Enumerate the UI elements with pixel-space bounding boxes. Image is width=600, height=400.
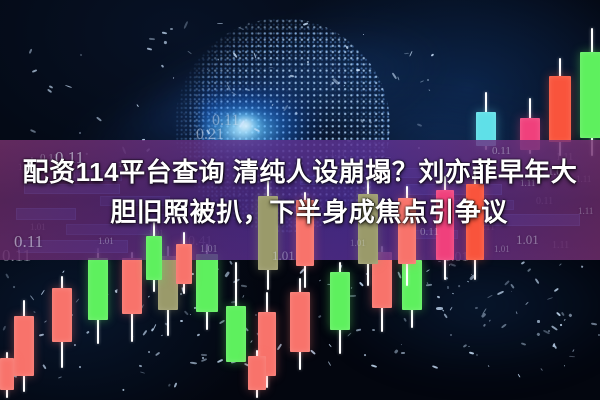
candlestick-body — [52, 288, 72, 342]
candlestick-body — [196, 254, 218, 312]
candlestick-body — [88, 258, 108, 320]
headline-line-1: 配资114平台查询 清纯人设崩塌？刘亦菲早年大 — [0, 152, 600, 192]
candlestick-body — [122, 258, 142, 314]
candlestick-body — [226, 306, 246, 362]
candlestick-body — [14, 316, 34, 376]
candlestick-body — [330, 272, 350, 330]
candlestick-body — [0, 358, 14, 390]
news-banner: 1.011.010.211.010.111.010.411.111.111.11… — [0, 0, 600, 400]
candlestick-body — [146, 236, 162, 280]
page-title: 配资114平台查询 清纯人设崩塌？刘亦菲早年大 胆旧照被扒，下半身成焦点引争议 — [0, 152, 600, 232]
candlestick-body — [580, 52, 600, 138]
headline-line-2: 胆旧照被扒，下半身成焦点引争议 — [0, 192, 600, 232]
candlestick-body — [549, 76, 571, 142]
candlestick-body — [176, 244, 192, 284]
